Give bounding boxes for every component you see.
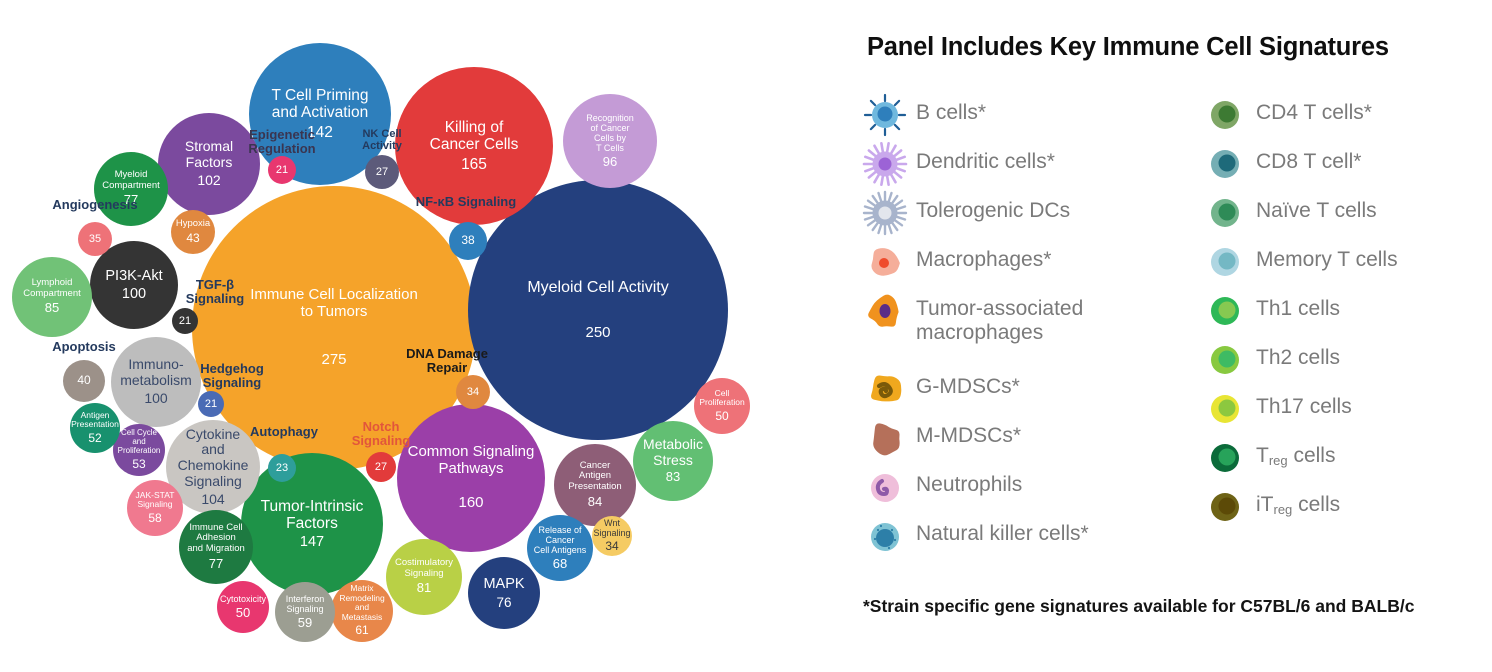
bubble-release-of-cancer-cell-antigens[interactable]: Release of Cancer Cell Antigens68 bbox=[527, 515, 593, 581]
bubble-value: 81 bbox=[417, 581, 431, 596]
dendritic-cell-icon bbox=[862, 141, 908, 187]
bubble-value: 21 bbox=[205, 398, 217, 410]
bubble-costimulatory-signaling[interactable]: Costimulatory Signaling81 bbox=[386, 539, 462, 615]
bubble-label: Immune Cell Localization to Tumors bbox=[248, 287, 420, 321]
bubble-tgf-signaling[interactable]: 21 bbox=[172, 308, 198, 334]
bubble-value: 58 bbox=[148, 512, 161, 525]
bubble-label: Cancer Antigen Presentation bbox=[566, 461, 623, 493]
bubble-cytotoxicity[interactable]: Cytotoxicity50 bbox=[217, 581, 269, 633]
bubble-value: 61 bbox=[355, 624, 368, 637]
legend-label: Naïve T cells bbox=[1256, 190, 1377, 223]
figure-root: Immune Cell Localization to Tumors275Mye… bbox=[0, 0, 1492, 672]
bubble-label: Common Signaling Pathways bbox=[406, 444, 537, 478]
bubble-value: 77 bbox=[209, 557, 223, 572]
bubble-value: 96 bbox=[603, 155, 617, 170]
bubble-wnt-signaling[interactable]: Wnt Signaling34 bbox=[592, 516, 632, 556]
bubble-value: 40 bbox=[77, 374, 90, 387]
bubble-value: 50 bbox=[236, 606, 250, 621]
footnote: *Strain specific gene signatures availab… bbox=[863, 596, 1414, 617]
bubble-value: 52 bbox=[88, 432, 101, 445]
bubble-value: 27 bbox=[376, 166, 388, 178]
bubble-value: 142 bbox=[307, 124, 333, 141]
legend-item-naive-t-cell[interactable]: Naïve T cells bbox=[1202, 190, 1377, 236]
th1-cell-icon bbox=[1202, 288, 1248, 334]
tumor-associated-macrophage-icon bbox=[862, 288, 908, 334]
tolerogenic-dc-icon bbox=[862, 190, 908, 236]
legend-item-cd8-t-cell[interactable]: CD8 T cell* bbox=[1202, 141, 1361, 187]
bubble-label: Costimulatory Signaling bbox=[393, 558, 455, 579]
legend-label: Th1 cells bbox=[1256, 288, 1340, 321]
bubble-value: 34 bbox=[605, 540, 618, 553]
legend-label: Macrophages* bbox=[916, 239, 1051, 272]
bubble-value: 53 bbox=[132, 458, 145, 471]
bubble-value: 21 bbox=[179, 315, 191, 327]
bubble-angiogenesis[interactable]: 35 bbox=[78, 222, 112, 256]
cd8-t-cell-icon bbox=[1202, 141, 1248, 187]
bubble-recognition-of-cancer-cells-by-t-cells[interactable]: Recognition of Cancer Cells by T Cells96 bbox=[563, 94, 657, 188]
bubble-label: JAK-STAT Signaling bbox=[134, 491, 177, 510]
bubble-metabolic-stress[interactable]: Metabolic Stress83 bbox=[633, 421, 713, 501]
bubble-myeloid-compartment[interactable]: Myeloid Compartment77 bbox=[94, 152, 168, 226]
legend-item-dendritic-cell[interactable]: Dendritic cells* bbox=[862, 141, 1055, 187]
bubble-label: Cytotoxicity bbox=[218, 594, 268, 604]
legend-item-natural-killer-cell[interactable]: Natural killer cells* bbox=[862, 513, 1089, 559]
bubble-label: Release of Cancer Cell Antigens bbox=[532, 525, 589, 555]
bubble-value: 104 bbox=[201, 492, 224, 508]
bubble-matrix-remodeling-and-metastasis[interactable]: Matrix Remodeling and Metastasis61 bbox=[331, 580, 393, 642]
bubble-immune-cell-adhesion-and-migration[interactable]: Immune Cell Adhesion and Migration77 bbox=[179, 510, 253, 584]
legend-label: G-MDSCs* bbox=[916, 366, 1020, 399]
neutrophil-icon bbox=[862, 464, 908, 510]
bubble-nk-cell-activity[interactable]: 27 bbox=[365, 155, 399, 189]
bubble-label: Cytokine and Chemokine Signaling bbox=[176, 427, 251, 490]
bubble-chart: Immune Cell Localization to Tumors275Mye… bbox=[0, 0, 840, 672]
bubble-killing-of-cancer-cells[interactable]: Killing of Cancer Cells165 bbox=[395, 67, 553, 225]
th2-cell-icon bbox=[1202, 337, 1248, 383]
bubble-value: 85 bbox=[45, 301, 59, 316]
bubble-interferon-signaling[interactable]: Interferon Signaling59 bbox=[275, 582, 335, 642]
legend-panel: Panel Includes Key Immune Cell Signature… bbox=[840, 0, 1492, 672]
bubble-value: 84 bbox=[588, 495, 602, 510]
legend-item-itreg-cell[interactable]: iTreg cells bbox=[1202, 484, 1340, 530]
bubble-label: Myeloid Cell Activity bbox=[525, 279, 670, 297]
legend-item-th2-cell[interactable]: Th2 cells bbox=[1202, 337, 1340, 383]
panel-title: Panel Includes Key Immune Cell Signature… bbox=[867, 33, 1389, 62]
bubble-cell-proliferation[interactable]: Cell Proliferation50 bbox=[694, 378, 750, 434]
macrophage-icon bbox=[862, 239, 908, 285]
bubble-value: 275 bbox=[321, 352, 346, 369]
bubble-label: Metabolic Stress bbox=[641, 437, 705, 468]
bubble-label: MAPK bbox=[481, 576, 526, 592]
bubble-label: T Cell Priming and Activation bbox=[269, 87, 370, 122]
legend-item-b-cell[interactable]: B cells* bbox=[862, 92, 986, 138]
bubble-value: 102 bbox=[197, 173, 220, 189]
bubble-immunometabolism[interactable]: Immuno- metabolism100 bbox=[111, 337, 201, 427]
bubble-value: 27 bbox=[375, 461, 387, 473]
legend-label: Tumor-associated macrophages bbox=[916, 288, 1083, 344]
naive-t-cell-icon bbox=[1202, 190, 1248, 236]
bubble-jak-stat-signaling[interactable]: JAK-STAT Signaling58 bbox=[127, 480, 183, 536]
bubble-value: 59 bbox=[298, 616, 312, 631]
bubble-label: Myeloid Compartment bbox=[100, 170, 162, 191]
bubble-label: Cell Proliferation bbox=[697, 389, 746, 408]
bubble-value: 21 bbox=[276, 164, 288, 176]
legend-item-treg-cell[interactable]: Treg cells bbox=[1202, 435, 1335, 481]
itreg-cell-icon bbox=[1202, 484, 1248, 530]
b-cell-icon bbox=[862, 92, 908, 138]
bubble-mapk[interactable]: MAPK76 bbox=[468, 557, 540, 629]
legend-label: Neutrophils bbox=[916, 464, 1022, 497]
legend-item-m-mdsc[interactable]: M-MDSCs* bbox=[862, 415, 1021, 461]
bubble-label: Immune Cell Adhesion and Migration bbox=[185, 523, 247, 555]
bubble-hypoxia[interactable]: Hypoxia43 bbox=[171, 210, 215, 254]
bubble-value: 165 bbox=[461, 156, 487, 173]
bubble-label: Lymphoid Compartment bbox=[21, 278, 83, 299]
m-mdsc-icon bbox=[862, 415, 908, 461]
bubble-label: Matrix Remodeling and Metastasis bbox=[337, 584, 386, 622]
bubble-dna-damage-repair[interactable]: 34 bbox=[456, 375, 490, 409]
bubble-epigenetic-regulation[interactable]: 21 bbox=[268, 156, 296, 184]
natural-killer-cell-icon bbox=[862, 513, 908, 559]
legend-label: Dendritic cells* bbox=[916, 141, 1055, 174]
legend-item-th1-cell[interactable]: Th1 cells bbox=[1202, 288, 1340, 334]
bubble-stromal-factors[interactable]: Stromal Factors102 bbox=[158, 113, 260, 215]
bubble-value: 83 bbox=[666, 470, 680, 485]
legend-item-tumor-associated-macrophage[interactable]: Tumor-associated macrophages bbox=[862, 288, 1083, 344]
bubble-label: Cell Cycle and Proliferation bbox=[116, 429, 163, 456]
legend-item-g-mdsc[interactable]: G-MDSCs* bbox=[862, 366, 1020, 412]
bubble-value: 50 bbox=[715, 410, 728, 423]
bubble-value: 250 bbox=[585, 325, 610, 342]
bubble-tumor-intrinsic-factors[interactable]: Tumor-Intrinsic Factors147 bbox=[241, 453, 383, 595]
legend-label: Treg cells bbox=[1256, 435, 1335, 469]
legend-label: CD4 T cells* bbox=[1256, 92, 1372, 125]
bubble-label: PI3K-Akt bbox=[103, 268, 164, 284]
bubble-nf-b-signaling[interactable]: 38 bbox=[449, 222, 487, 260]
bubble-myeloid-cell-activity[interactable]: Myeloid Cell Activity250 bbox=[468, 180, 728, 440]
bubble-cancer-antigen-presentation[interactable]: Cancer Antigen Presentation84 bbox=[554, 444, 636, 526]
cd4-t-cell-icon bbox=[1202, 92, 1248, 138]
bubble-value: 38 bbox=[461, 234, 474, 247]
legend-item-th17-cell[interactable]: Th17 cells bbox=[1202, 386, 1352, 432]
bubble-label: Interferon Signaling bbox=[284, 594, 327, 614]
bubble-lymphoid-compartment[interactable]: Lymphoid Compartment85 bbox=[12, 257, 92, 337]
bubble-notch-signaling[interactable]: 27 bbox=[366, 452, 396, 482]
bubble-cell-cycle-and-proliferation[interactable]: Cell Cycle and Proliferation53 bbox=[113, 424, 165, 476]
legend-item-neutrophil[interactable]: Neutrophils bbox=[862, 464, 1022, 510]
bubble-value: 100 bbox=[144, 391, 167, 407]
bubble-label: Stromal Factors bbox=[183, 139, 235, 170]
g-mdsc-icon bbox=[862, 366, 908, 412]
bubble-value: 35 bbox=[89, 233, 101, 245]
legend-label: M-MDSCs* bbox=[916, 415, 1021, 448]
bubble-value: 76 bbox=[496, 595, 511, 610]
bubble-label: Tumor-Intrinsic Factors bbox=[259, 498, 366, 533]
bubble-value: 147 bbox=[300, 534, 324, 550]
memory-t-cell-icon bbox=[1202, 239, 1248, 285]
bubble-value: 23 bbox=[276, 462, 288, 474]
legend-label: Natural killer cells* bbox=[916, 513, 1089, 546]
bubble-value: 160 bbox=[458, 495, 483, 512]
legend-label: Tolerogenic DCs bbox=[916, 190, 1070, 223]
bubble-value: 43 bbox=[186, 232, 199, 245]
bubble-value: 34 bbox=[467, 386, 479, 398]
bubble-apoptosis[interactable]: 40 bbox=[63, 360, 105, 402]
legend-item-tolerogenic-dc[interactable]: Tolerogenic DCs bbox=[862, 190, 1070, 236]
legend-item-cd4-t-cell[interactable]: CD4 T cells* bbox=[1202, 92, 1372, 138]
bubble-value: 77 bbox=[124, 193, 138, 208]
bubble-label: Recognition of Cancer Cells by T Cells bbox=[584, 113, 636, 153]
legend-label: iTreg cells bbox=[1256, 484, 1340, 518]
legend-label: Memory T cells bbox=[1256, 239, 1398, 272]
legend-item-memory-t-cell[interactable]: Memory T cells bbox=[1202, 239, 1398, 285]
bubble-pi3k-akt[interactable]: PI3K-Akt100 bbox=[90, 241, 178, 329]
bubble-label: Killing of Cancer Cells bbox=[428, 119, 521, 154]
bubble-antigen-presentation[interactable]: Antigen Presentation52 bbox=[70, 403, 120, 453]
bubble-autophagy[interactable]: 23 bbox=[268, 454, 296, 482]
bubble-value: 68 bbox=[553, 557, 567, 572]
bubble-label: Immuno- metabolism bbox=[118, 357, 194, 388]
legend-item-macrophage[interactable]: Macrophages* bbox=[862, 239, 1051, 285]
legend-label: B cells* bbox=[916, 92, 986, 125]
bubble-value: 100 bbox=[122, 286, 146, 302]
treg-cell-icon bbox=[1202, 435, 1248, 481]
legend-label: Th2 cells bbox=[1256, 337, 1340, 370]
legend-label: Th17 cells bbox=[1256, 386, 1352, 419]
bubble-label: Wnt Signaling bbox=[591, 518, 632, 538]
bubble-label: Antigen Presentation bbox=[69, 411, 121, 430]
bubble-common-signaling-pathways[interactable]: Common Signaling Pathways160 bbox=[397, 404, 545, 552]
bubble-label: Hypoxia bbox=[174, 219, 212, 230]
legend-label: CD8 T cell* bbox=[1256, 141, 1361, 174]
bubble-hedgehog-signaling[interactable]: 21 bbox=[198, 391, 224, 417]
th17-cell-icon bbox=[1202, 386, 1248, 432]
